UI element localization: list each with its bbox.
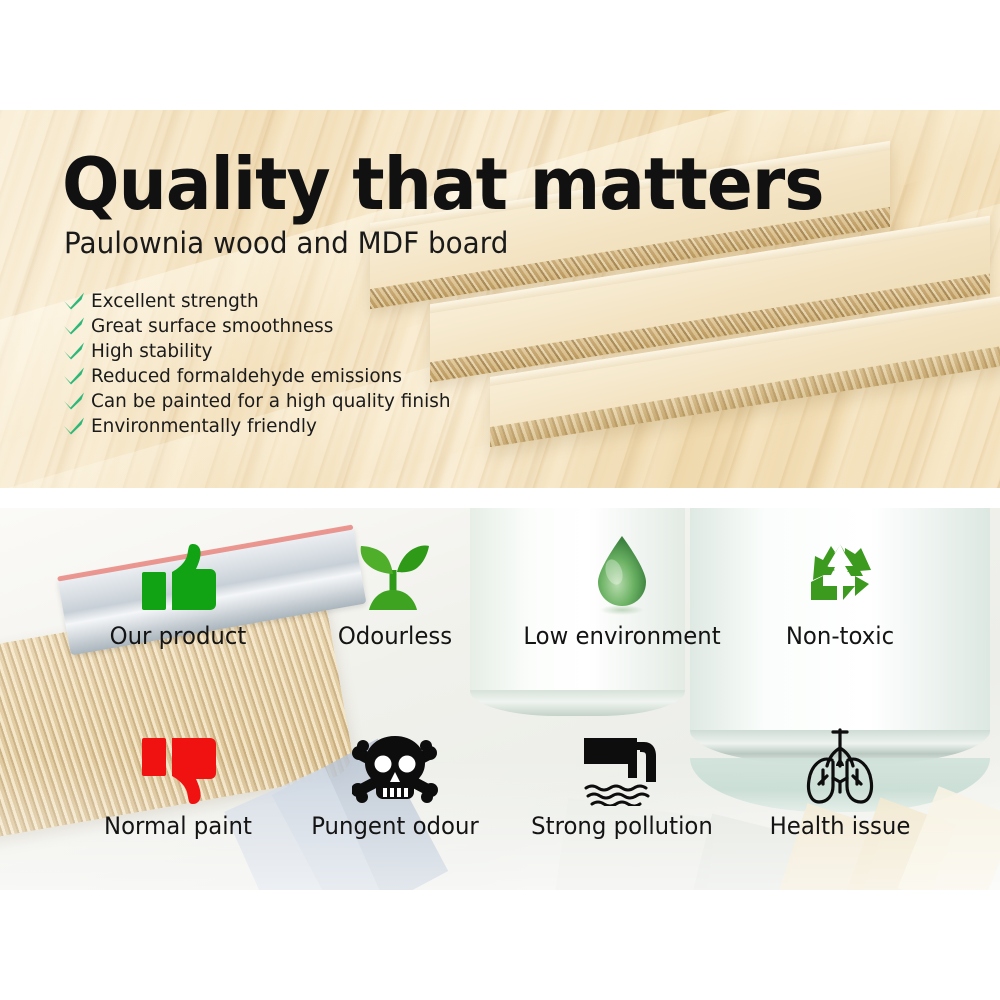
comparison-label: Odourless <box>286 622 505 650</box>
check-icon <box>62 290 86 312</box>
comparison-label: Pungent odour <box>286 812 505 840</box>
check-icon <box>62 315 86 337</box>
comparison-label: Normal paint <box>69 812 288 840</box>
product-feature-image: Quality that matters Paulownia wood and … <box>0 0 1000 1000</box>
list-item: Reduced formaldehyde emissions <box>62 363 462 388</box>
comparison-item-non-toxic: Non-toxic <box>725 530 955 650</box>
sprout-icon <box>280 530 510 616</box>
comparison-item-health-issue: Health issue <box>725 720 955 840</box>
comparison-grid: Our product Odourless <box>0 508 1000 890</box>
comparison-label: Our product <box>69 622 288 650</box>
feature-label: Reduced formaldehyde emissions <box>91 365 402 387</box>
comparison-item-our-product: Our product <box>63 530 293 650</box>
thumbs-down-icon <box>63 720 293 806</box>
comparison-label: Low environment <box>513 622 732 650</box>
list-item: Excellent strength <box>62 288 462 313</box>
page-subtitle: Paulownia wood and MDF board <box>64 228 508 260</box>
comparison-item-low-environment: Low environment <box>507 530 737 650</box>
comparison-label: Health issue <box>731 812 950 840</box>
thumbs-up-icon <box>63 530 293 616</box>
skull-crossbones-icon <box>280 720 510 806</box>
list-item: Environmentally friendly <box>62 413 462 438</box>
list-item: Great surface smoothness <box>62 313 462 338</box>
pipe-discharge-icon <box>507 720 737 806</box>
page-title: Quality that matters <box>62 148 824 220</box>
list-item: Can be painted for a high quality finish <box>62 388 462 413</box>
comparison-item-strong-pollution: Strong pollution <box>507 720 737 840</box>
water-droplet-icon <box>507 530 737 616</box>
check-icon <box>62 340 86 362</box>
feature-label: Can be painted for a high quality finish <box>91 390 451 412</box>
list-item: High stability <box>62 338 462 363</box>
comparison-item-pungent-odour: Pungent odour <box>280 720 510 840</box>
feature-label: Excellent strength <box>91 290 259 312</box>
lungs-icon <box>725 720 955 806</box>
recycle-icon <box>725 530 955 616</box>
comparison-label: Non-toxic <box>731 622 950 650</box>
check-icon <box>62 365 86 387</box>
comparison-item-normal-paint: Normal paint <box>63 720 293 840</box>
feature-label: Environmentally friendly <box>91 415 317 437</box>
feature-label: High stability <box>91 340 213 362</box>
check-icon <box>62 390 86 412</box>
panel-divider <box>0 488 1000 508</box>
check-icon <box>62 415 86 437</box>
feature-list: Excellent strength Great surface smoothn… <box>62 288 462 438</box>
comparison-item-odourless: Odourless <box>280 530 510 650</box>
comparison-label: Strong pollution <box>513 812 732 840</box>
feature-label: Great surface smoothness <box>91 315 333 337</box>
